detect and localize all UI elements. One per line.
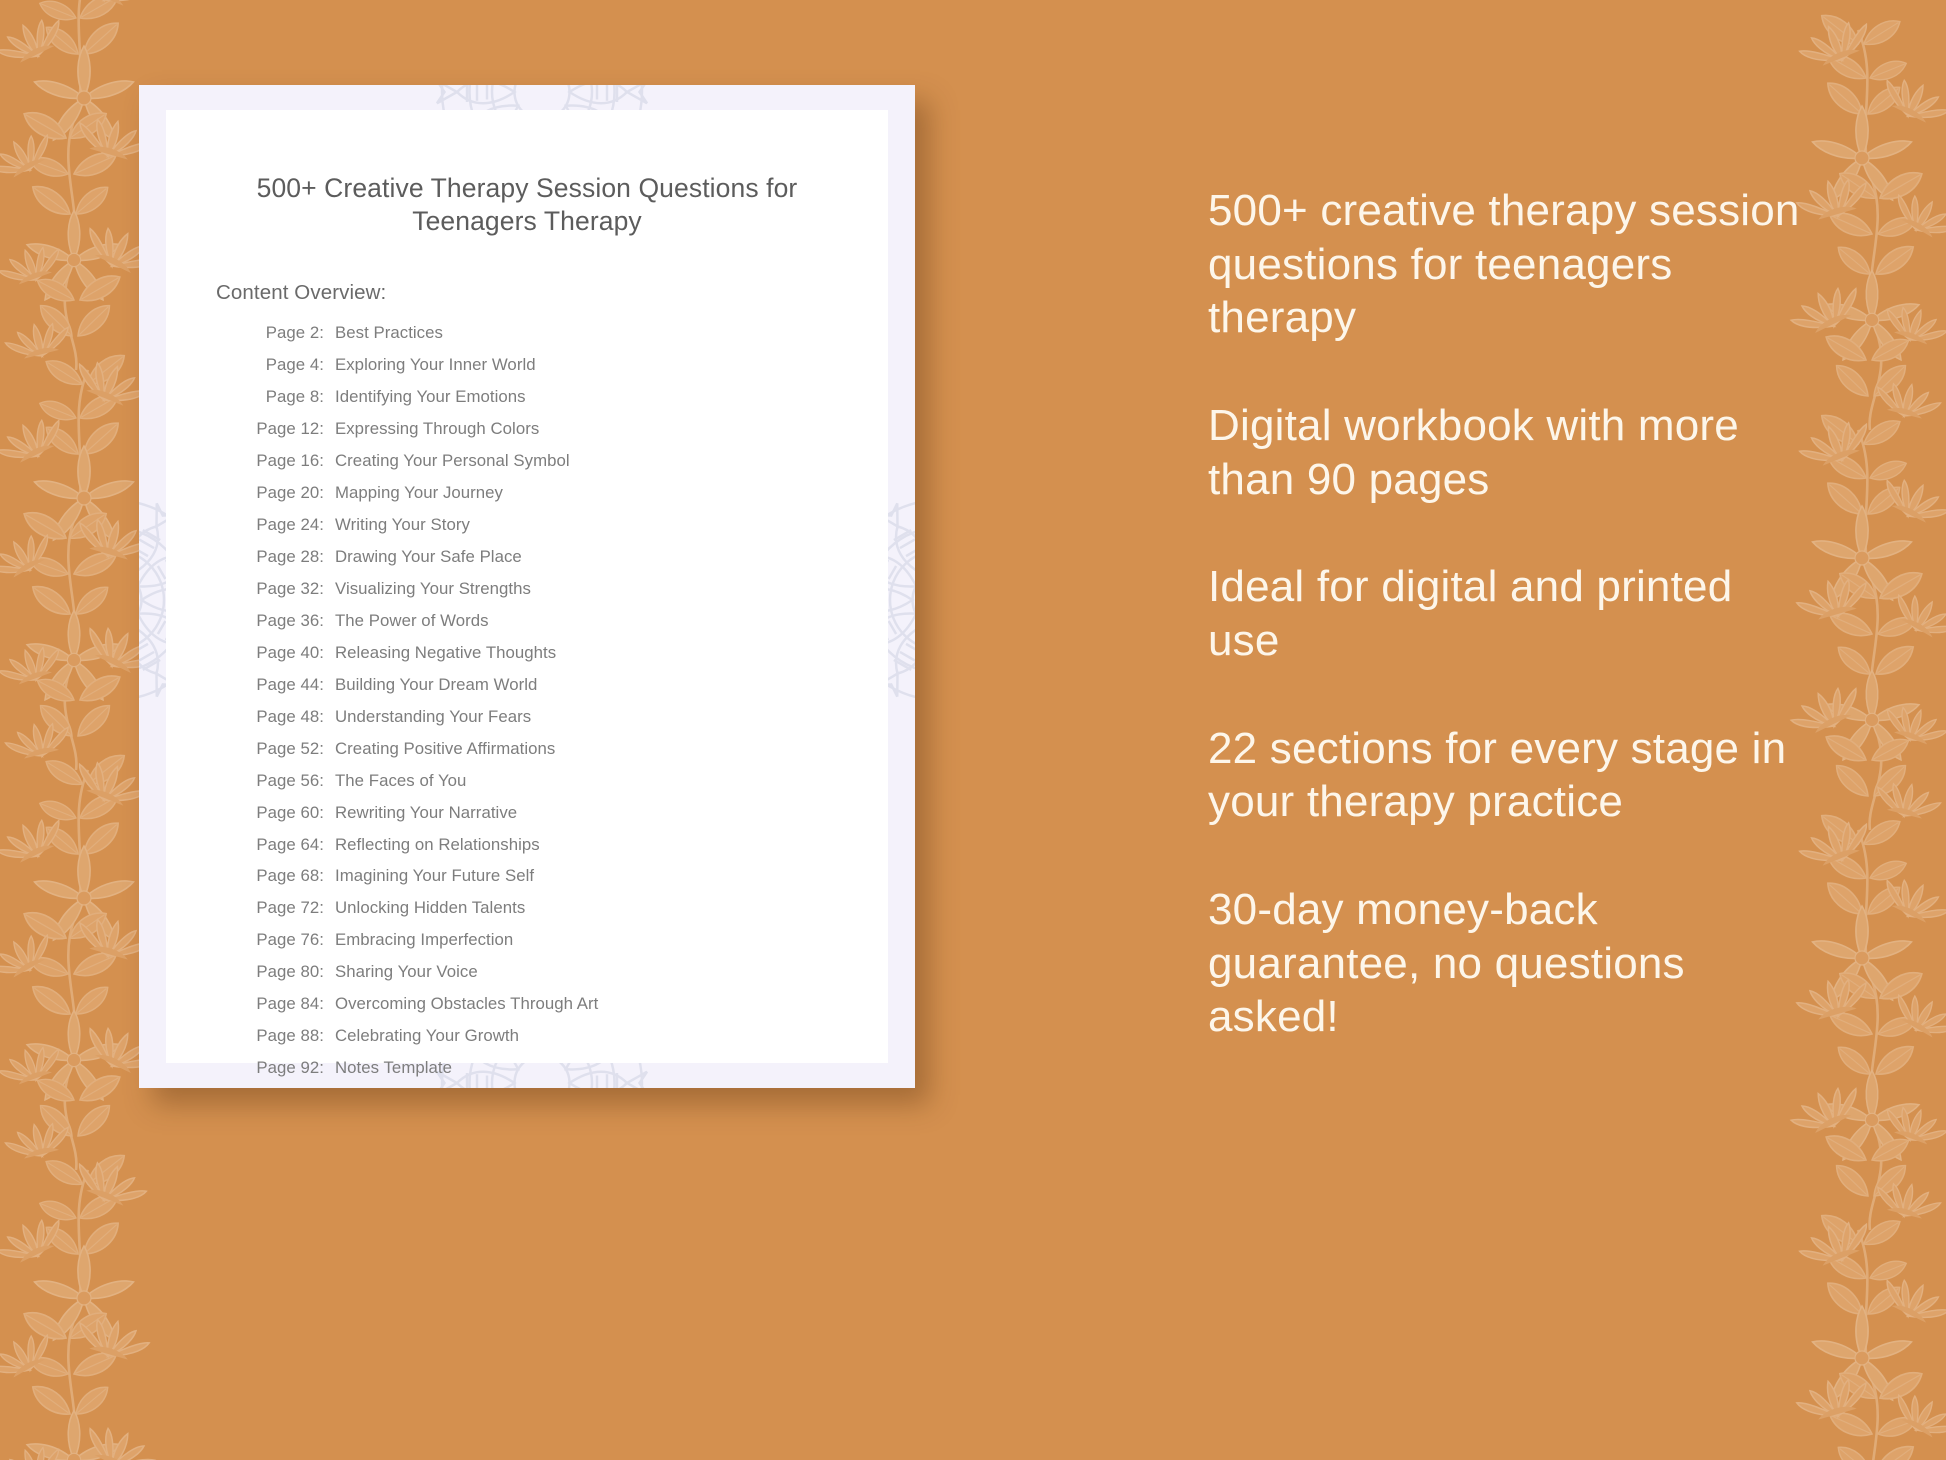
document-page: 500+ Creative Therapy Session Questions …	[166, 110, 888, 1063]
toc-entry-title: Unlocking Hidden Talents	[335, 900, 525, 917]
marketing-point: 500+ creative therapy session questions …	[1208, 184, 1808, 345]
toc-entry-title: Best Practices	[335, 325, 443, 342]
toc-entry[interactable]: Page 36:The Power of Words	[240, 613, 888, 630]
toc-entry-page: Page 68:	[240, 868, 324, 885]
toc-entry[interactable]: Page 80:Sharing Your Voice	[240, 964, 888, 981]
toc-entry[interactable]: Page 44:Building Your Dream World	[240, 677, 888, 694]
toc-entry-title: Notes Template	[335, 1060, 452, 1077]
toc-entry-title: Embracing Imperfection	[335, 932, 513, 949]
toc-entry[interactable]: Page 84:Overcoming Obstacles Through Art	[240, 996, 888, 1013]
toc-entry-page: Page 60:	[240, 805, 324, 822]
toc-entry-page: Page 44:	[240, 677, 324, 694]
document-frame: 500+ Creative Therapy Session Questions …	[139, 85, 915, 1088]
toc-entry-page: Page 20:	[240, 485, 324, 502]
toc-entry[interactable]: Page 24:Writing Your Story	[240, 517, 888, 534]
toc-entry-page: Page 76:	[240, 932, 324, 949]
toc-entry[interactable]: Page 16:Creating Your Personal Symbol	[240, 453, 888, 470]
toc-entry-page: Page 2:	[240, 325, 324, 342]
toc-entry-page: Page 72:	[240, 900, 324, 917]
toc-entry-title: The Power of Words	[335, 613, 489, 630]
marketing-point: 30-day money-back guarantee, no question…	[1208, 883, 1808, 1044]
toc-entry[interactable]: Page 56:The Faces of You	[240, 773, 888, 790]
toc-entry[interactable]: Page 32:Visualizing Your Strengths	[240, 581, 888, 598]
marketing-points: 500+ creative therapy session questions …	[1208, 184, 1808, 1044]
toc-entry-title: Identifying Your Emotions	[335, 389, 526, 406]
toc-entry-page: Page 12:	[240, 421, 324, 438]
toc-entry-page: Page 24:	[240, 517, 324, 534]
toc-entry-title: Creating Positive Affirmations	[335, 741, 555, 758]
toc-entry-title: Celebrating Your Growth	[335, 1028, 519, 1045]
toc-entry-page: Page 48:	[240, 709, 324, 726]
toc-entry[interactable]: Page 28:Drawing Your Safe Place	[240, 549, 888, 566]
toc-entry[interactable]: Page 60:Rewriting Your Narrative	[240, 805, 888, 822]
toc-entry-page: Page 92:	[240, 1060, 324, 1077]
toc-entry[interactable]: Page 88:Celebrating Your Growth	[240, 1028, 888, 1045]
toc-entry[interactable]: Page 12:Expressing Through Colors	[240, 421, 888, 438]
toc-entry-title: Releasing Negative Thoughts	[335, 645, 556, 662]
toc-entry-page: Page 64:	[240, 837, 324, 854]
toc-entry-title: The Faces of You	[335, 773, 466, 790]
toc-entry-page: Page 88:	[240, 1028, 324, 1045]
toc-entry-title: Understanding Your Fears	[335, 709, 531, 726]
toc-entry[interactable]: Page 8:Identifying Your Emotions	[240, 389, 888, 406]
toc-entry-page: Page 16:	[240, 453, 324, 470]
toc-entry-page: Page 36:	[240, 613, 324, 630]
document-preview[interactable]: 500+ Creative Therapy Session Questions …	[139, 85, 915, 1088]
toc-entry-title: Visualizing Your Strengths	[335, 581, 531, 598]
toc-entry[interactable]: Page 72:Unlocking Hidden Talents	[240, 900, 888, 917]
toc-entry-title: Exploring Your Inner World	[335, 357, 536, 374]
toc-entry-title: Creating Your Personal Symbol	[335, 453, 570, 470]
toc-entry-page: Page 56:	[240, 773, 324, 790]
toc-entry-page: Page 28:	[240, 549, 324, 566]
toc-entry[interactable]: Page 4:Exploring Your Inner World	[240, 357, 888, 374]
toc-entry-page: Page 52:	[240, 741, 324, 758]
toc-entry-title: Reflecting on Relationships	[335, 837, 540, 854]
toc-entry-page: Page 32:	[240, 581, 324, 598]
marketing-point: 22 sections for every stage in your ther…	[1208, 722, 1808, 829]
marketing-point: Digital workbook with more than 90 pages	[1208, 399, 1808, 506]
toc-entry[interactable]: Page 92:Notes Template	[240, 1060, 888, 1077]
toc-entry-title: Writing Your Story	[335, 517, 470, 534]
marketing-point: Ideal for digital and printed use	[1208, 560, 1808, 667]
toc-entry[interactable]: Page 52:Creating Positive Affirmations	[240, 741, 888, 758]
toc-entry-page: Page 4:	[240, 357, 324, 374]
toc-entry[interactable]: Page 2:Best Practices	[240, 325, 888, 342]
toc-entry-title: Overcoming Obstacles Through Art	[335, 996, 598, 1013]
toc-entry-page: Page 80:	[240, 964, 324, 981]
toc-entry-page: Page 84:	[240, 996, 324, 1013]
toc-entry[interactable]: Page 68:Imagining Your Future Self	[240, 868, 888, 885]
document-title: 500+ Creative Therapy Session Questions …	[222, 172, 832, 239]
toc-entry-page: Page 40:	[240, 645, 324, 662]
toc-entry[interactable]: Page 76:Embracing Imperfection	[240, 932, 888, 949]
toc-entry-title: Rewriting Your Narrative	[335, 805, 517, 822]
toc-entry[interactable]: Page 40:Releasing Negative Thoughts	[240, 645, 888, 662]
toc-entry[interactable]: Page 64:Reflecting on Relationships	[240, 837, 888, 854]
toc-entry-title: Drawing Your Safe Place	[335, 549, 522, 566]
toc-entry[interactable]: Page 48:Understanding Your Fears	[240, 709, 888, 726]
toc-entry-title: Sharing Your Voice	[335, 964, 478, 981]
toc-entry-title: Imagining Your Future Self	[335, 868, 534, 885]
toc-entry-title: Building Your Dream World	[335, 677, 537, 694]
toc-entry[interactable]: Page 20:Mapping Your Journey	[240, 485, 888, 502]
toc-entry-title: Mapping Your Journey	[335, 485, 503, 502]
toc-entry-title: Expressing Through Colors	[335, 421, 539, 438]
toc-entry-page: Page 8:	[240, 389, 324, 406]
content-overview-label: Content Overview:	[216, 281, 888, 305]
table-of-contents: Page 2:Best PracticesPage 4:Exploring Yo…	[240, 325, 888, 1077]
